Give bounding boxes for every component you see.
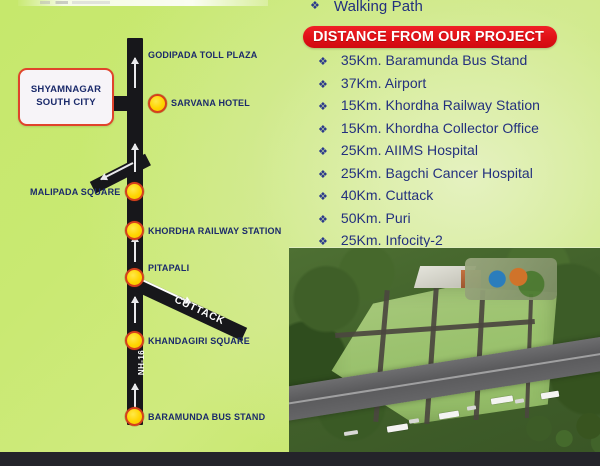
project-name-line1: SHYAMNAGAR (31, 84, 101, 97)
diamond-bullet-icon: ❖ (318, 57, 328, 68)
project-name-line2: SOUTH CITY (31, 97, 101, 110)
list-item: ❖ 35Km. Baramunda Bus Stand (318, 52, 600, 75)
amenity-label-walking-path: Walking Path (334, 0, 423, 15)
diamond-bullet-icon: ❖ (318, 192, 328, 203)
list-item: ❖ 15Km. Khordha Collector Office (318, 120, 600, 143)
direction-arrow-icon (134, 144, 136, 172)
map-marker-sarvana-hotel[interactable] (148, 94, 167, 113)
map-label-malipada-square: MALIPADA SQUARE (30, 187, 121, 197)
map-marker-pitapali[interactable] (125, 268, 144, 287)
distance-label: 37Km. Airport (341, 75, 426, 91)
map-label-godipada-toll-plaza: GODIPADA TOLL PLAZA (148, 50, 257, 60)
distance-label: 25Km. Infocity-2 (341, 232, 443, 248)
distance-label: 35Km. Baramunda Bus Stand (341, 52, 527, 68)
diamond-bullet-icon: ❖ (310, 1, 320, 12)
diamond-bullet-icon: ❖ (318, 215, 328, 226)
highway-label-nh16: NH-16 (137, 350, 146, 375)
diamond-bullet-icon: ❖ (318, 80, 328, 91)
map-label-khordha-railway-station: KHORDHA RAILWAY STATION (148, 226, 281, 236)
amenity-zone-with-pool (465, 258, 557, 300)
map-marker-malipada-square[interactable] (125, 182, 144, 201)
map-label-sarvana-hotel: SARVANA HOTEL (171, 98, 250, 108)
distance-label: 40Km. Cuttack (341, 187, 433, 203)
distance-label: 15Km. Khordha Collector Office (341, 120, 539, 136)
distance-list: ❖ 35Km. Baramunda Bus Stand ❖ 37Km. Airp… (318, 52, 600, 255)
map-marker-khandagiri-square[interactable] (125, 331, 144, 350)
route-map: NH-16 CUTTACK SHYAMNAGAR SOUTH CITY GODI… (0, 6, 300, 452)
list-item: ❖ 37Km. Airport (318, 75, 600, 98)
aerial-site-photo (289, 247, 600, 452)
distance-label: 25Km. Bagchi Cancer Hospital (341, 165, 533, 181)
direction-arrow-icon (134, 58, 136, 88)
amenity-item-walking-path: ❖ Walking Path (310, 0, 423, 15)
map-label-baramunda-bus-stand: BARAMUNDA BUS STAND (148, 412, 265, 422)
distance-section-banner: DISTANCE FROM OUR PROJECT (303, 26, 557, 48)
map-marker-khordha-railway-station[interactable] (125, 221, 144, 240)
top-edge-specks (40, 1, 110, 4)
roadside-trees (521, 410, 600, 452)
map-label-pitapali: PITAPALI (148, 263, 189, 273)
list-item: ❖ 50Km. Puri (318, 210, 600, 233)
project-callout-box[interactable]: SHYAMNAGAR SOUTH CITY (18, 68, 114, 126)
distance-label: 25Km. AIIMS Hospital (341, 142, 478, 158)
map-marker-baramunda-bus-stand[interactable] (125, 407, 144, 426)
distance-banner-label: DISTANCE FROM OUR PROJECT (313, 29, 544, 45)
distance-label: 15Km. Khordha Railway Station (341, 97, 540, 113)
distance-label: 50Km. Puri (341, 210, 411, 226)
project-callout-text: SHYAMNAGAR SOUTH CITY (31, 84, 101, 110)
location-map-page: NH-16 CUTTACK SHYAMNAGAR SOUTH CITY GODI… (0, 0, 600, 466)
map-label-khandagiri-square: KHANDAGIRI SQUARE (148, 336, 250, 346)
bottom-edge-bar (0, 452, 600, 466)
diamond-bullet-icon: ❖ (318, 102, 328, 113)
list-item: ❖ 25Km. Bagchi Cancer Hospital (318, 165, 600, 188)
diamond-bullet-icon: ❖ (318, 125, 328, 136)
direction-arrow-icon (134, 297, 136, 323)
list-item: ❖ 15Km. Khordha Railway Station (318, 97, 600, 120)
diamond-bullet-icon: ❖ (318, 170, 328, 181)
list-item: ❖ 25Km. AIIMS Hospital (318, 142, 600, 165)
list-item: ❖ 40Km. Cuttack (318, 187, 600, 210)
diamond-bullet-icon: ❖ (318, 147, 328, 158)
